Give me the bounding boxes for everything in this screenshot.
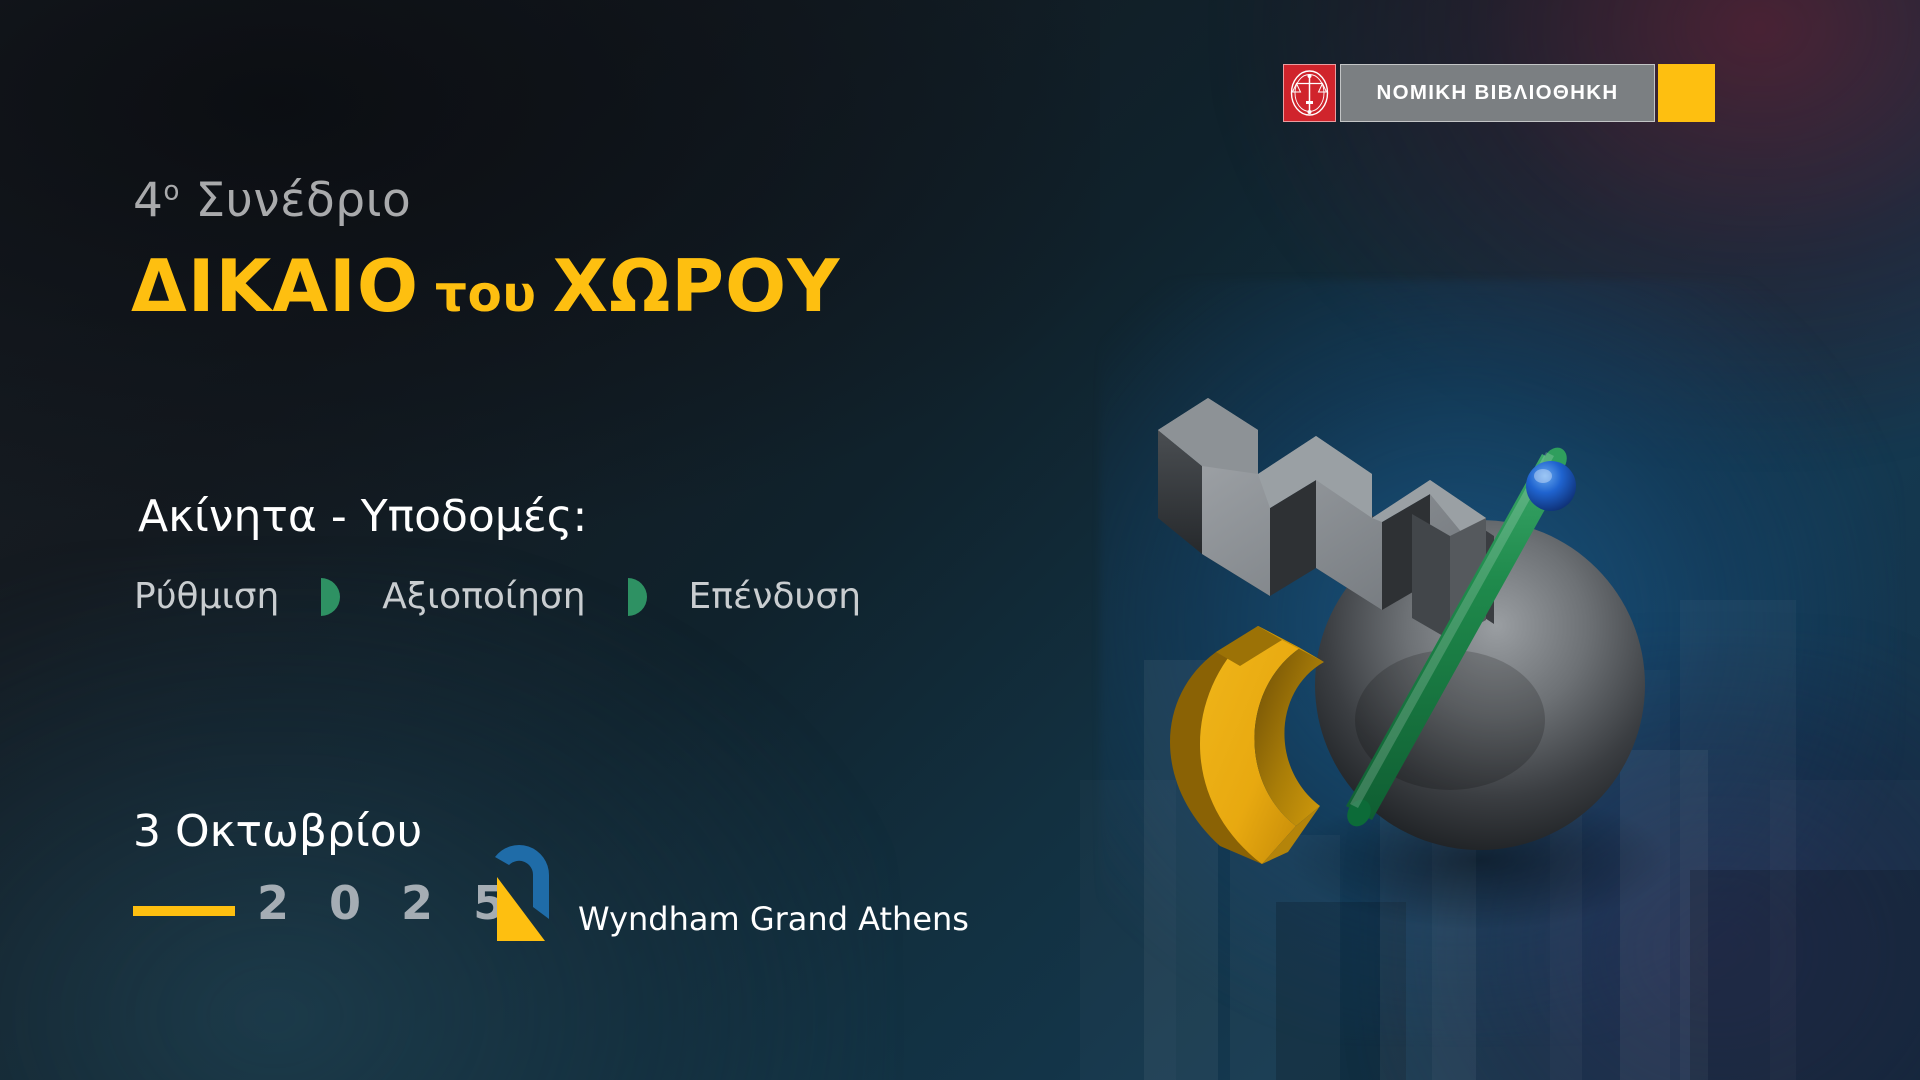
half-disc-marker-icon: [628, 578, 647, 616]
event-venue: Wyndham Grand Athens: [578, 903, 969, 935]
event-edition-kicker: 4ο Συνέδριο: [133, 177, 411, 224]
brand-name-label: ΝΟΜΙΚΗ ΒΙΒΛΙΟΘΗΚΗ: [1340, 64, 1655, 122]
wyndham-logo-mark: [487, 823, 567, 941]
title-part-one: ΔΙΚΑΙΟ: [131, 244, 419, 328]
edition-word: Συνέδριο: [195, 173, 411, 228]
pillar-item-2: Αξιοποίηση: [382, 579, 585, 615]
edition-number: 4: [133, 173, 163, 228]
poster-canvas: ΝΟΜΙΚΗ ΒΙΒΛΙΟΘΗΚΗ 4ο Συνέδριο ΔΙΚΑΙΟτουΧ…: [0, 0, 1920, 1080]
event-date: 3 Οκτωβρίου: [133, 810, 517, 854]
event-date-block: 3 Οκτωβρίου 2 0 2 5: [133, 810, 517, 926]
subtitle: Ακίνητα - Υποδομές:: [138, 495, 587, 539]
accent-chip: [1658, 64, 1715, 122]
edition-ordinal: ο: [163, 176, 180, 206]
half-disc-marker-icon: [321, 578, 340, 616]
accent-rule: [133, 906, 235, 916]
pillar-item-3: Επένδυση: [689, 579, 861, 615]
scales-of-justice-emblem: [1283, 64, 1336, 122]
abstract-3d-composition: [1150, 390, 1770, 950]
event-year-row: 2 0 2 5: [133, 880, 517, 926]
title-part-two: ΧΩΡΟΥ: [553, 244, 841, 328]
pillar-item-1: Ρύθμιση: [134, 579, 279, 615]
title-connector: του: [435, 265, 537, 323]
brand-logo[interactable]: ΝΟΜΙΚΗ ΒΙΒΛΙΟΘΗΚΗ: [1283, 64, 1655, 122]
page-title: ΔΙΚΑΙΟτουΧΩΡΟΥ: [131, 250, 840, 322]
pillars-row: Ρύθμιση Αξιοποίηση Επένδυση: [134, 578, 861, 616]
event-year: 2 0 2 5: [257, 880, 517, 926]
